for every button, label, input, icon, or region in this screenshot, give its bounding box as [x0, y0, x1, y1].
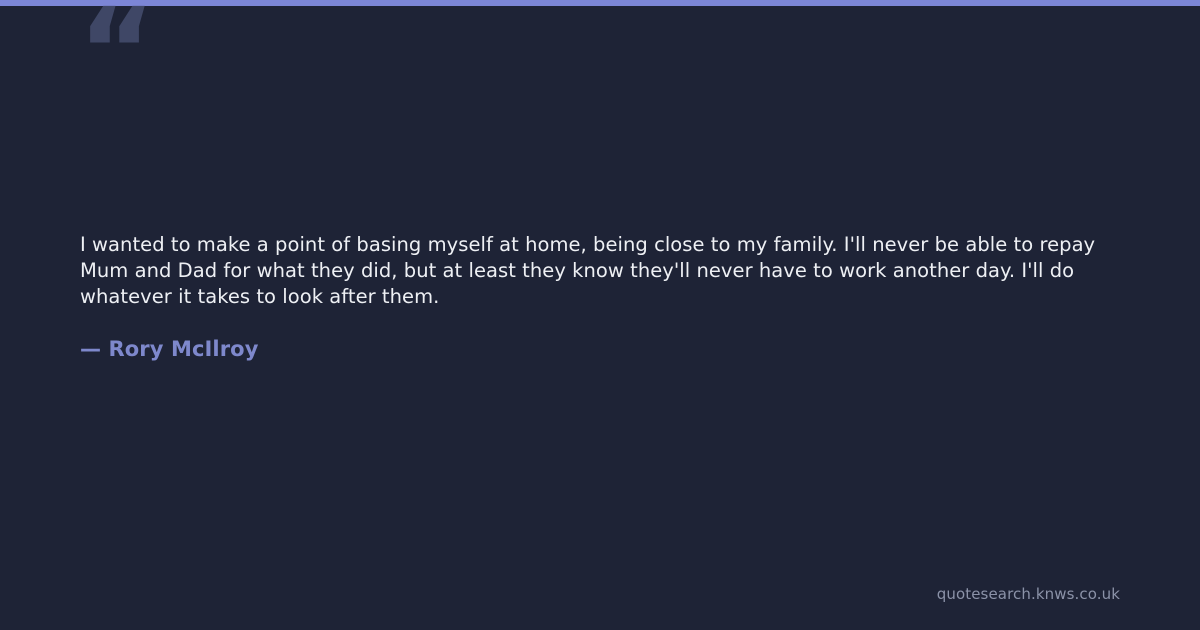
quote-card: “ I wanted to make a point of basing mys…	[0, 0, 1200, 630]
opening-quote-mark-icon: “	[78, 0, 154, 110]
quote-author: — Rory McIlroy	[80, 335, 1120, 363]
top-accent-bar	[0, 0, 1200, 6]
source-site-label: quotesearch.knws.co.uk	[937, 584, 1120, 604]
quote-content: I wanted to make a point of basing mysel…	[80, 232, 1120, 363]
quote-text: I wanted to make a point of basing mysel…	[80, 232, 1120, 310]
